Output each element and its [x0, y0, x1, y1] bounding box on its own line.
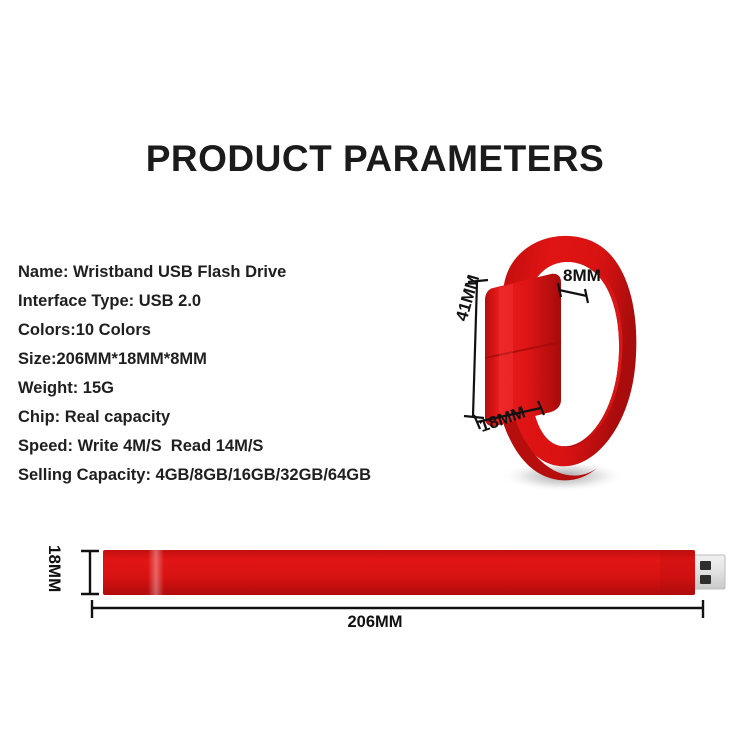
- usb-a-connector: [693, 555, 725, 589]
- spec-row-speed: Speed: Write 4M/S Read 14M/S: [18, 432, 438, 461]
- band-clasp-housing: [485, 274, 561, 426]
- strip-clasp-seam: [148, 550, 164, 595]
- product-parameters-list: Name: Wristband USB Flash Drive Interfac…: [18, 258, 438, 490]
- spec-row-chip: Chip: Real capacity: [18, 403, 438, 432]
- usb-contact-lower: [700, 575, 711, 584]
- dimension-label-strip-width: 18MM: [44, 545, 64, 592]
- wristband-loop-photo: 8MM 41MM 18MM: [455, 218, 655, 508]
- spec-row-colors: Colors:10 Colors: [18, 316, 438, 345]
- page-title: PRODUCT PARAMETERS: [0, 138, 750, 180]
- wristband-loop-illustration: [455, 218, 655, 508]
- spec-row-interface-type: Interface Type: USB 2.0: [18, 287, 438, 316]
- dimension-label-strip-length: 206MM: [0, 613, 750, 632]
- dimension-label-8mm: 8MM: [563, 266, 601, 286]
- strip-body: [103, 550, 695, 595]
- spec-row-size: Size:206MM*18MM*8MM: [18, 345, 438, 374]
- usb-contact-upper: [700, 561, 711, 570]
- spec-row-weight: Weight: 15G: [18, 374, 438, 403]
- spec-row-name: Name: Wristband USB Flash Drive: [18, 258, 438, 287]
- spec-row-selling-capacity: Selling Capacity: 4GB/8GB/16GB/32GB/64GB: [18, 461, 438, 490]
- strip-right-shade: [660, 550, 695, 595]
- clasp-highlight: [499, 284, 513, 422]
